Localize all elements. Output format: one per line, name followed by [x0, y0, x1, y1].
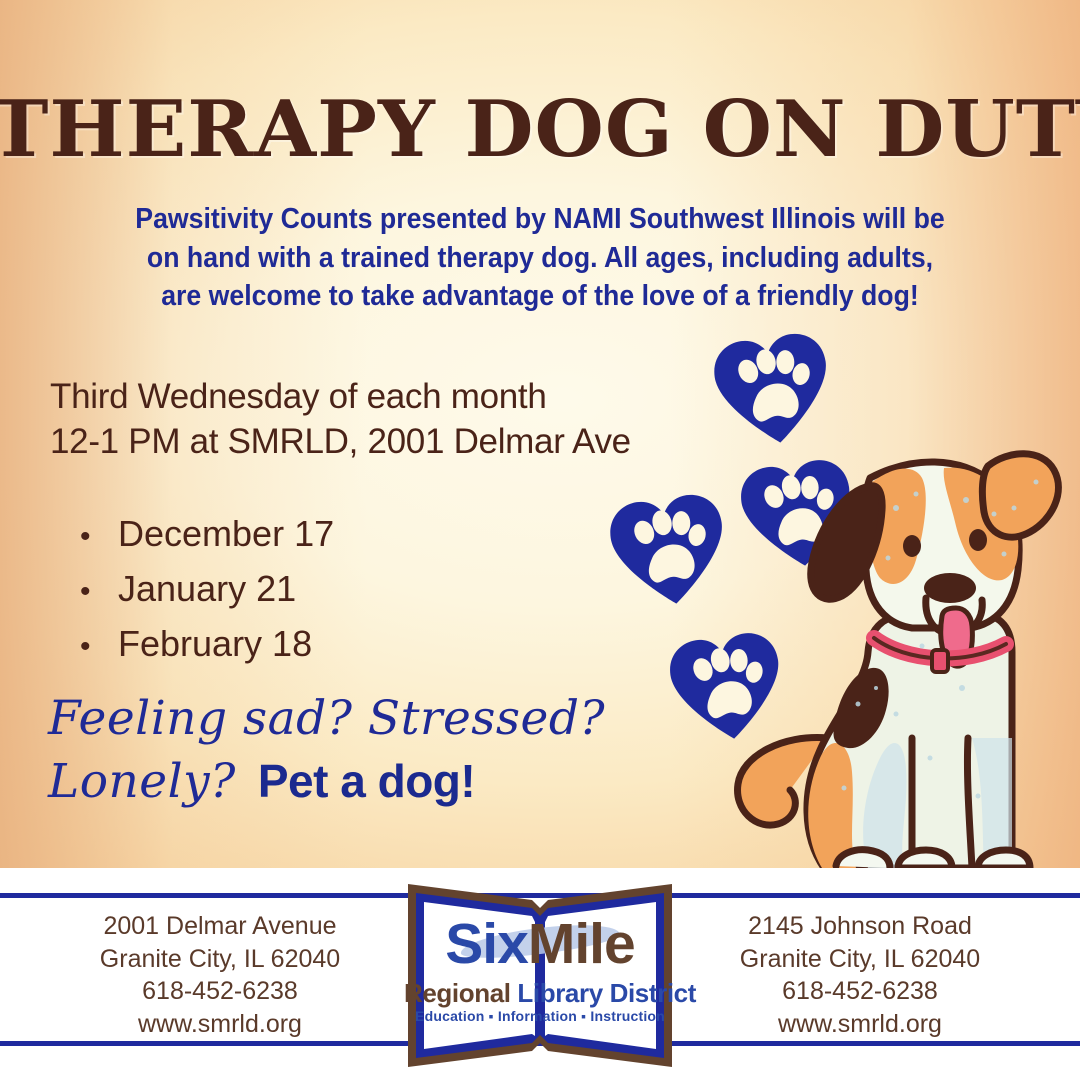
- logo-tagline: Education ▪ Information ▪ Instruction: [404, 1008, 676, 1024]
- address-left: 2001 Delmar Avenue Granite City, IL 6204…: [10, 910, 430, 1040]
- logo-subtitle: Regional Library District: [404, 978, 676, 1009]
- tagline-script-line1: Feeling sad? Stressed?: [48, 688, 668, 751]
- date-list: • December 17 • January 21 • February 18: [80, 506, 600, 671]
- address-left-street: 2001 Delmar Avenue: [10, 910, 430, 943]
- poster-canvas: THERAPY DOG ON DUTY Pawsitivity Counts p…: [0, 0, 1080, 1080]
- address-right-street: 2145 Johnson Road: [650, 910, 1070, 943]
- list-item: • December 17: [80, 506, 600, 561]
- date-label: December 17: [118, 506, 334, 561]
- list-item: • January 21: [80, 561, 600, 616]
- tagline-call-to-action: Pet a dog!: [258, 754, 475, 808]
- address-right: 2145 Johnson Road Granite City, IL 62040…: [650, 910, 1070, 1040]
- schedule-line-recurrence: Third Wednesday of each month: [50, 375, 750, 420]
- logo-word-mile: Mile: [528, 912, 635, 976]
- logo-wordmark: SixMile: [404, 916, 676, 973]
- date-label: January 21: [118, 561, 296, 616]
- tagline-row-2: Lonely? Pet a dog!: [48, 751, 668, 814]
- bullet-icon: •: [80, 518, 118, 552]
- logo-word-six: Six: [445, 912, 528, 976]
- address-left-city: Granite City, IL 62040: [10, 943, 430, 976]
- list-item: • February 18: [80, 616, 600, 671]
- logo-word-library-district: Library District: [517, 978, 696, 1008]
- tagline-script-line2: Lonely?: [48, 751, 236, 814]
- schedule-block: Third Wednesday of each month 12-1 PM at…: [50, 375, 750, 465]
- paw-heart-3: [606, 491, 732, 612]
- date-label: February 18: [118, 616, 312, 671]
- schedule-line-time-location: 12-1 PM at SMRLD, 2001 Delmar Ave: [50, 420, 750, 465]
- logo-word-regional: Regional: [404, 978, 511, 1008]
- smrld-logo[interactable]: SixMile Regional Library District Educat…: [404, 878, 676, 1073]
- page-title: THERAPY DOG ON DUTY: [0, 84, 1080, 175]
- address-right-city: Granite City, IL 62040: [650, 943, 1070, 976]
- address-left-phone: 618-452-6238: [10, 975, 430, 1008]
- intro-paragraph: Pawsitivity Counts presented by NAMI Sou…: [126, 200, 954, 316]
- address-right-web[interactable]: www.smrld.org: [650, 1008, 1070, 1041]
- address-right-phone: 618-452-6238: [650, 975, 1070, 1008]
- address-left-web[interactable]: www.smrld.org: [10, 1008, 430, 1041]
- bullet-icon: •: [80, 628, 118, 662]
- tagline-block: Feeling sad? Stressed? Lonely? Pet a dog…: [48, 688, 668, 814]
- bullet-icon: •: [80, 573, 118, 607]
- therapy-dog-illustration: [716, 438, 1076, 878]
